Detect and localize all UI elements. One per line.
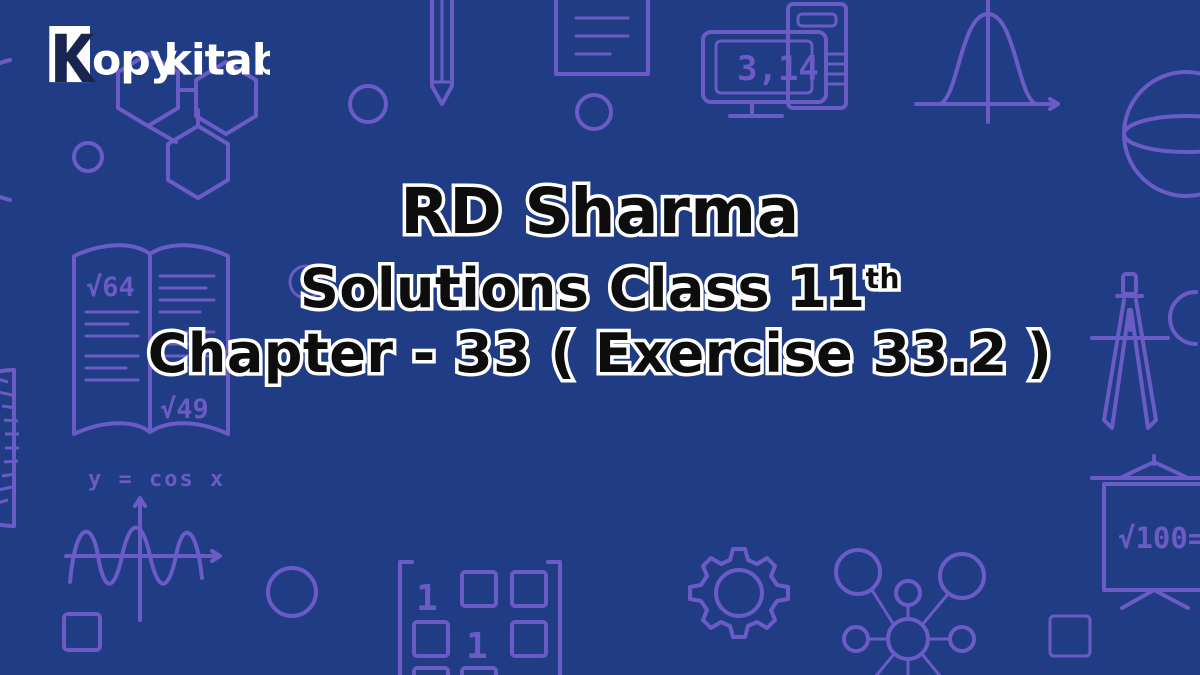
svg-text:3,14: 3,14 (737, 49, 819, 89)
bell-curve-icon (916, 0, 1058, 122)
subtitle-class-ordinal: th (866, 262, 900, 295)
headline-block: RD Sharma Solutions Class 11th Chapter -… (0, 176, 1200, 385)
monitor-pi-icon: 3,14 (703, 4, 846, 116)
document-lines-icon (556, 0, 648, 74)
presentation-board-icon: √100= (1092, 456, 1200, 608)
banner-root: .dl { fill:none; stroke:#6b5bc4; stroke-… (0, 0, 1200, 675)
protractor-icon (0, 370, 19, 526)
svg-text:1: 1 (416, 578, 438, 619)
logo-k-mark (49, 26, 96, 82)
small-circle-icon (577, 95, 611, 129)
small-circle-icon (268, 568, 316, 616)
subtitle-class: Solutions Class 11th (20, 258, 1180, 320)
small-circle-icon (74, 143, 102, 171)
gear-icon (690, 549, 788, 637)
svg-text:1: 1 (466, 626, 488, 667)
subtitle-class-text: Solutions Class 11 (300, 257, 866, 320)
small-circle-icon (1050, 616, 1090, 656)
svg-text:√49: √49 (160, 394, 209, 425)
matrix-brackets-icon: 1 1 (400, 562, 560, 675)
pencil-icon (432, 0, 452, 104)
svg-text:√100=: √100= (1118, 521, 1200, 555)
svg-text:kitab: kitab (164, 35, 271, 85)
page-title: RD Sharma (20, 176, 1180, 248)
cosine-graph-icon: y = cos x (66, 467, 225, 620)
network-nodes-icon (836, 550, 984, 675)
svg-text:y = cos x: y = cos x (88, 467, 225, 492)
subtitle-chapter: Chapter - 33 ( Exercise 33.2 ) (20, 323, 1180, 385)
small-circle-icon (350, 86, 386, 122)
kopykitab-logo[interactable]: opy kitab (28, 24, 270, 86)
small-circle-icon (64, 614, 100, 650)
